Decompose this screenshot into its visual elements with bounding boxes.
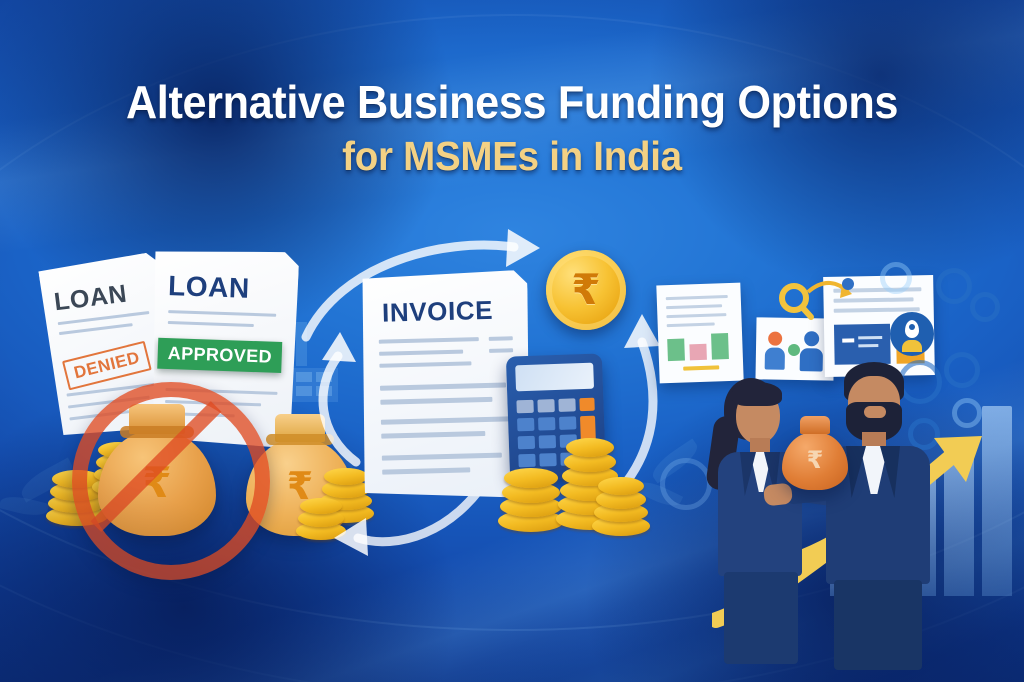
- businessman-figure: [820, 358, 950, 668]
- title-line-primary: Alternative Business Funding Options: [31, 78, 994, 128]
- banner-title: Alternative Business Funding Options for…: [0, 78, 1024, 178]
- title-line-secondary: for MSMEs in India: [31, 134, 994, 178]
- businesswoman-figure: [700, 372, 820, 662]
- money-bag-rupee-symbol: ₹: [807, 449, 824, 473]
- banner-image: Alternative Business Funding Options for…: [0, 0, 1024, 682]
